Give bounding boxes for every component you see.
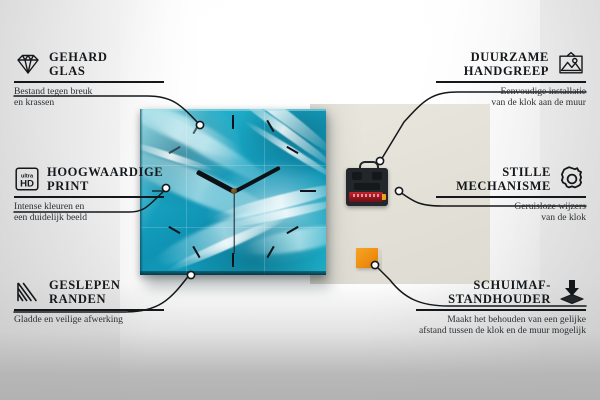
feature-header: ultra HD HOOGWAARDIGE PRINT bbox=[14, 165, 164, 193]
feature-description-line2: afstand tussen de klok en de muur mogeli… bbox=[416, 325, 586, 336]
feature-header: STILLE MECHANISME bbox=[436, 165, 586, 193]
feature-title-line1: STILLE bbox=[456, 165, 551, 179]
feature-title: GEHARD GLAS bbox=[49, 50, 107, 78]
feature-divider bbox=[436, 81, 586, 83]
beveled-edges-icon bbox=[14, 280, 42, 304]
feature-title-line1: GEHARD bbox=[49, 50, 107, 64]
feature-title-line1: HOOGWAARDIGE bbox=[47, 165, 163, 179]
feature-description-line2: van de klok aan de muur bbox=[436, 97, 586, 108]
feature-hoogwaardige-print: ultra HD HOOGWAARDIGE PRINT Intense kleu… bbox=[14, 165, 164, 223]
clock-tick-6 bbox=[232, 253, 234, 267]
feature-description-line1: Bestand tegen breuk bbox=[14, 86, 164, 97]
feature-description-line1: Geruisloze wijzers bbox=[436, 201, 586, 212]
feature-description-line2: van de klok bbox=[436, 212, 586, 223]
feature-divider bbox=[14, 309, 164, 311]
mechanism-slot bbox=[354, 183, 380, 190]
battery bbox=[349, 192, 383, 202]
feature-title-line1: GESLEPEN bbox=[49, 278, 121, 292]
infographic-canvas: GEHARD GLAS Bestand tegen breuk en krass… bbox=[0, 0, 600, 400]
feature-title: HOOGWAARDIGE PRINT bbox=[47, 165, 163, 193]
feature-header: GEHARD GLAS bbox=[14, 50, 164, 78]
feature-title-line1: DUURZAME bbox=[464, 50, 549, 64]
feature-title: DUURZAME HANDGREEP bbox=[464, 50, 549, 78]
glass-clock-face bbox=[140, 109, 326, 275]
product-scene bbox=[140, 104, 350, 284]
feature-title-line2: HANDGREEP bbox=[464, 64, 549, 78]
feature-description: Geruisloze wijzers van de klok bbox=[436, 201, 586, 224]
ultra-hd-icon-text-bottom: HD bbox=[20, 178, 34, 189]
feature-title-line2: GLAS bbox=[49, 64, 107, 78]
diamond-icon bbox=[14, 52, 42, 76]
feature-description: Maakt het behouden van een gelijke afsta… bbox=[416, 314, 586, 337]
feature-title-line1: SCHUIMAF- bbox=[448, 278, 551, 292]
feature-header: DUURZAME HANDGREEP bbox=[436, 50, 586, 78]
feature-title-line2: STANDHOUDER bbox=[448, 292, 551, 306]
feature-description-line1: Eenvoudige installatie bbox=[436, 86, 586, 97]
feature-geslepen-randen: GESLEPEN RANDEN Gladde en veilige afwerk… bbox=[14, 278, 164, 325]
feature-schuimaf-standhouder: SCHUIMAF- STANDHOUDER Maakt het behouden… bbox=[416, 278, 586, 336]
feature-description: Bestand tegen breuk en krassen bbox=[14, 86, 164, 109]
feature-duurzame-handgreep: DUURZAME HANDGREEP Eenvoudige installati… bbox=[436, 50, 586, 108]
feature-title: GESLEPEN RANDEN bbox=[49, 278, 121, 306]
press-down-arrow-icon bbox=[558, 278, 586, 306]
feature-header: SCHUIMAF- STANDHOUDER bbox=[416, 278, 586, 306]
feature-title-line2: MECHANISME bbox=[456, 179, 551, 193]
clock-mechanism bbox=[346, 168, 388, 206]
ultra-hd-badge-icon: ultra HD bbox=[14, 166, 40, 192]
feature-description-line1: Intense kleuren en bbox=[14, 201, 164, 212]
feature-description-line1: Maakt het behouden van een gelijke bbox=[416, 314, 586, 325]
feature-description-line2: een duidelijk beeld bbox=[14, 212, 164, 223]
feature-gehard-glas: GEHARD GLAS Bestand tegen breuk en krass… bbox=[14, 50, 164, 108]
feature-description: Gladde en veilige afwerking bbox=[14, 314, 164, 325]
clock-tick-3 bbox=[300, 190, 316, 192]
feature-title: STILLE MECHANISME bbox=[456, 165, 551, 193]
feature-divider bbox=[14, 81, 164, 83]
picture-frame-hanging-icon bbox=[556, 51, 586, 77]
feature-divider bbox=[416, 309, 586, 311]
clock-second-hand bbox=[233, 192, 234, 254]
feature-description-line1: Gladde en veilige afwerking bbox=[14, 314, 164, 325]
clock-center-cap bbox=[231, 188, 237, 194]
feature-stille-mechanisme: STILLE MECHANISME Geruisloze wijzers van… bbox=[436, 165, 586, 223]
clock-tick-12 bbox=[232, 115, 234, 129]
feature-description: Eenvoudige installatie van de klok aan d… bbox=[436, 86, 586, 109]
feature-title-line2: PRINT bbox=[47, 179, 163, 193]
feature-title: SCHUIMAF- STANDHOUDER bbox=[448, 278, 551, 306]
feature-divider bbox=[436, 196, 586, 198]
feature-description-line2: en krassen bbox=[14, 97, 164, 108]
foam-spacer bbox=[356, 248, 378, 268]
feature-description: Intense kleuren en een duidelijk beeld bbox=[14, 201, 164, 224]
feature-title-line2: RANDEN bbox=[49, 292, 121, 306]
feature-header: GESLEPEN RANDEN bbox=[14, 278, 164, 306]
feature-divider bbox=[14, 196, 164, 198]
gear-icon bbox=[558, 165, 586, 193]
